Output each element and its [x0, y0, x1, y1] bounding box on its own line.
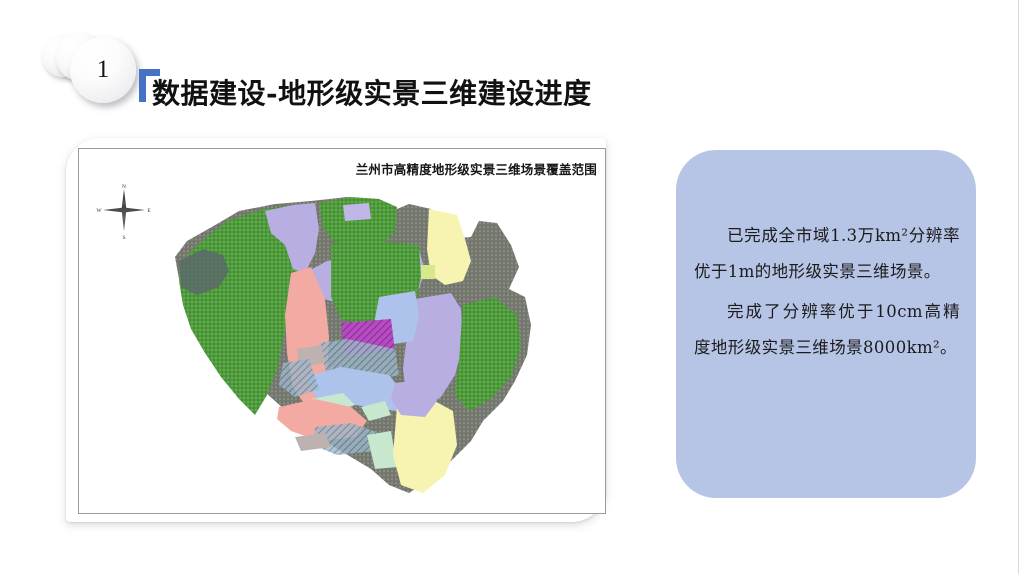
page-title: 数据建设-地形级实景三维建设进度	[152, 72, 592, 112]
map-card: 兰州市高精度地形级实景三维场景覆盖范围 N S E W	[66, 138, 606, 522]
map-graphic	[79, 149, 605, 513]
info-panel: 已完成全市域1.3万km²分辨率优于1m的地形级实景三维场景。 完成了分辨率优于…	[676, 150, 976, 498]
slide-canvas: 1 数据建设-地形级实景三维建设进度 兰州市高精度地形级实景三维场景覆盖范围	[0, 0, 1024, 574]
info-panel-body: 已完成全市域1.3万km²分辨率优于1m的地形级实景三维场景。 完成了分辨率优于…	[694, 218, 960, 370]
map-frame: 兰州市高精度地形级实景三维场景覆盖范围 N S E W	[78, 148, 606, 514]
info-paragraph-1: 已完成全市域1.3万km²分辨率优于1m的地形级实景三维场景。	[694, 218, 960, 290]
info-paragraph-2: 完成了分辨率优于10cm高精度地形级实景三维场景8000km²。	[694, 294, 960, 366]
slide-header: 1 数据建设-地形级实景三维建设进度	[0, 0, 1024, 128]
slide-number-badge: 1	[42, 33, 138, 115]
map-region-green-southeast	[455, 297, 521, 411]
map-region-yellowgreen-patch	[421, 265, 435, 279]
map-region-lavender-patch	[343, 203, 371, 221]
badge-number-label: 1	[97, 57, 110, 84]
badge-circle-front: 1	[70, 37, 136, 103]
